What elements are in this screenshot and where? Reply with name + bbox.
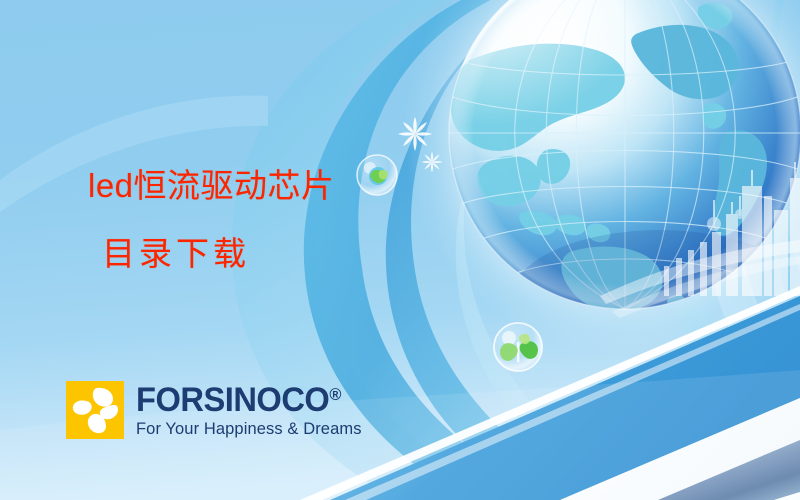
headline: led恒流驱动芯片 目录下载 (88, 163, 335, 277)
company-logo[interactable]: FORSINOCO® For Your Happiness & Dreams (66, 381, 362, 439)
logo-wordmark: FORSINOCO® For Your Happiness & Dreams (136, 383, 362, 438)
forsinoco-pinwheel-mark (66, 381, 124, 439)
headline-line-1: led恒流驱动芯片 (88, 167, 335, 204)
bubble-green-globe (357, 155, 397, 195)
brand-name: FORSINOCO® (136, 383, 353, 417)
bubble-green-sprout (494, 323, 542, 371)
sparkle-star-large (398, 117, 432, 151)
registered-trademark-icon: ® (329, 385, 341, 404)
promo-banner: led恒流驱动芯片 目录下载 FORSINOCO® For (0, 0, 800, 500)
headline-line-2: 目录下载 (88, 231, 335, 277)
brand-name-text: FORSINOCO (136, 381, 329, 419)
brand-tagline: For Your Happiness & Dreams (136, 421, 362, 438)
sparkle-star-small (421, 151, 442, 172)
